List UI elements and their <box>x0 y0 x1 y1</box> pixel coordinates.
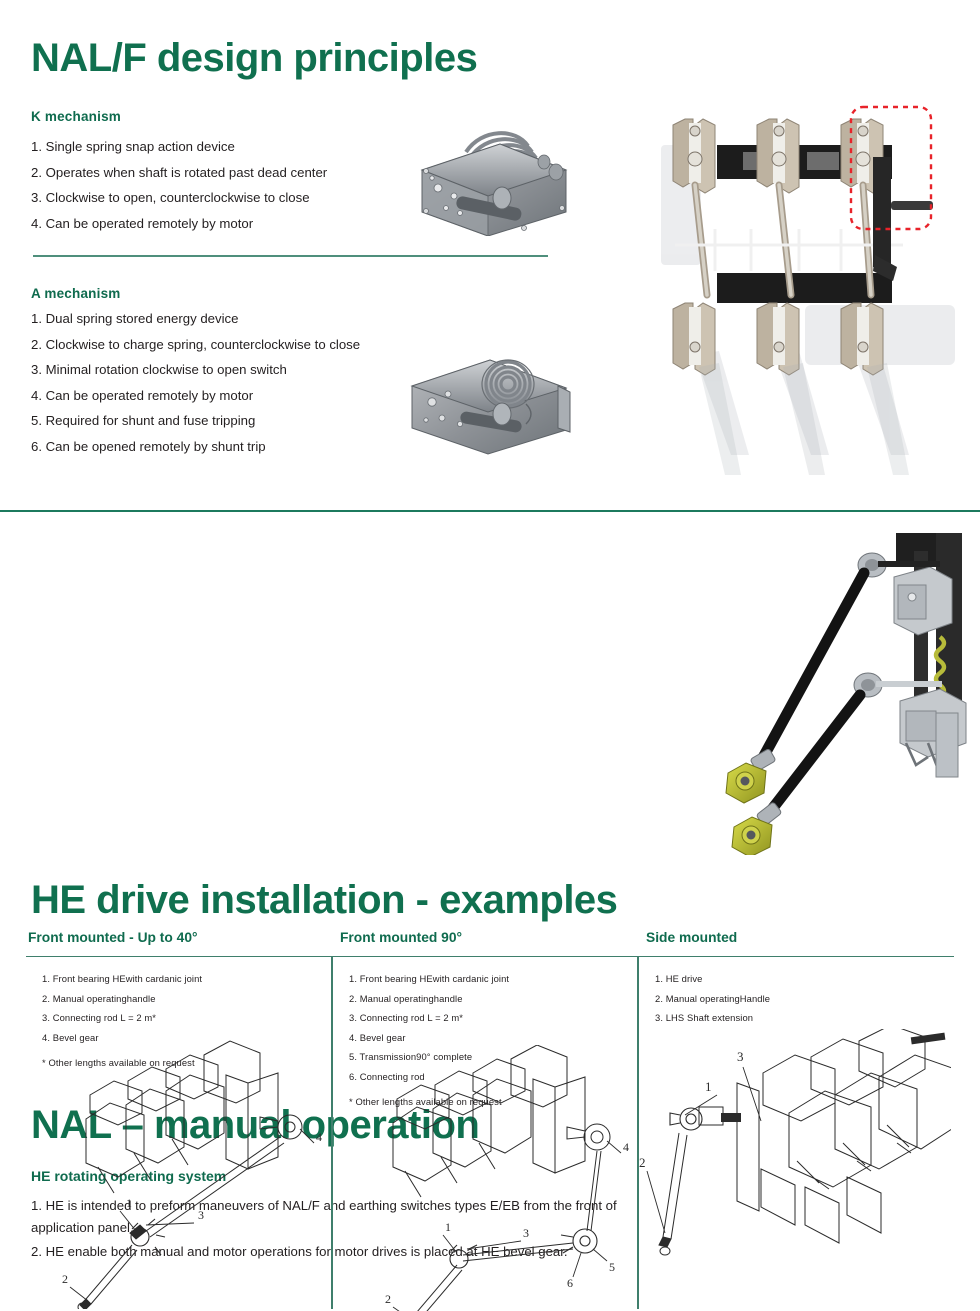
list-item: 5. Required for shunt and fuse tripping <box>31 408 360 434</box>
column-heading: Front mounted 90° <box>340 930 462 945</box>
he-rotating-system-photo <box>700 525 980 860</box>
callout-2: 2 <box>385 1292 391 1306</box>
callout-3: 3 <box>737 1049 744 1064</box>
divider-k-a <box>33 255 548 257</box>
column-heading: Front mounted - Up to 40° <box>28 930 198 945</box>
column-box: 1. Front bearing HEwith cardanic joint 2… <box>332 956 638 1309</box>
diagram-side-mounted: 1 2 3 <box>639 1029 951 1309</box>
callout-3: 3 <box>523 1226 529 1240</box>
list-item: 3. Connecting rod L = 2 m* <box>349 1008 509 1028</box>
column-box: 1. Front bearing HEwith cardanic joint 2… <box>26 956 332 1309</box>
list-item: 3. Clockwise to open, counterclockwise t… <box>31 185 327 211</box>
callout-1: 1 <box>705 1079 712 1094</box>
callout-2: 2 <box>639 1155 646 1170</box>
heading-k-mechanism: K mechanism <box>31 109 121 124</box>
callout-4: 4 <box>623 1140 629 1154</box>
list-item: 3. LHS Shaft extension <box>655 1008 770 1028</box>
list-item: 1. Front bearing HEwith cardanic joint <box>42 969 202 989</box>
column-box: 1. HE drive 2. Manual operatingHandle 3.… <box>638 956 954 1309</box>
page-title-he-drive-installation: HE drive installation - examples <box>31 878 617 923</box>
list-item: 2. Clockwise to charge spring, countercl… <box>31 332 360 358</box>
callout-1: 1 <box>445 1220 451 1234</box>
he-drive-columns: Front mounted - Up to 40° 1. Front beari… <box>0 930 980 1306</box>
list-item: 1. HE drive <box>655 969 770 989</box>
list-item: 3. Minimal rotation clockwise to open sw… <box>31 357 360 383</box>
list-item: 4. Can be operated remotely by motor <box>31 383 360 409</box>
list-item: 1. Single spring snap action device <box>31 134 327 160</box>
diagram-front-mounted-40: 1 2 3 4 <box>28 1009 332 1309</box>
brochure-page: NAL/F design principles K mechanism 1. S… <box>0 0 980 1306</box>
spec-list: 1. HE drive 2. Manual operatingHandle 3.… <box>655 969 770 1028</box>
list-item: 2. Operates when shaft is rotated past d… <box>31 160 327 186</box>
callout-1: 1 <box>126 1196 132 1210</box>
callout-3: 3 <box>198 1208 204 1222</box>
k-mechanism-photo <box>404 116 584 241</box>
list-item: 1. Dual spring stored energy device <box>31 306 360 332</box>
heading-a-mechanism: A mechanism <box>31 286 120 301</box>
list-item: 4. Can be operated remotely by motor <box>31 211 327 237</box>
list-item: 6. Can be opened remotely by shunt trip <box>31 434 360 460</box>
list-k-mechanism: 1. Single spring snap action device 2. O… <box>31 134 327 236</box>
diagram-front-mounted-90: 1 2 3 4 5 6 <box>335 1045 639 1311</box>
callout-5: 5 <box>609 1260 615 1274</box>
list-item: 2. Manual operatinghandle <box>42 989 202 1009</box>
section-design-principles: NAL/F design principles K mechanism 1. S… <box>0 0 980 511</box>
list-a-mechanism: 1. Dual spring stored energy device 2. C… <box>31 306 360 459</box>
column-heading: Side mounted <box>646 930 737 945</box>
a-mechanism-photo <box>398 336 578 461</box>
callout-6: 6 <box>567 1276 573 1290</box>
list-item: 2. Manual operatinghandle <box>349 989 509 1009</box>
list-item: 2. Manual operatingHandle <box>655 989 770 1009</box>
callout-4: 4 <box>316 1130 322 1144</box>
callout-2: 2 <box>62 1272 68 1286</box>
switchgear-photo <box>655 105 965 490</box>
list-item: 1. Front bearing HEwith cardanic joint <box>349 969 509 989</box>
page-title-design-principles: NAL/F design principles <box>31 36 477 81</box>
